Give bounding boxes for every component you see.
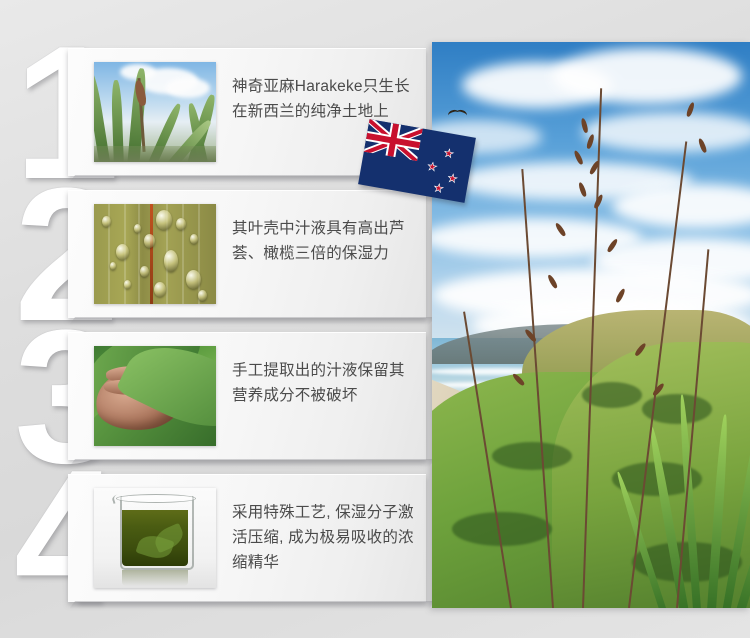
- bird-icon: [448, 110, 468, 119]
- feature-card-2: 其叶壳中汁液具有高出芦荟、橄榄三倍的保湿力: [68, 190, 426, 318]
- dew-on-leaf-photo: [94, 204, 216, 304]
- feature-text-4: 采用特殊工艺, 保湿分子激活压缩, 成为极易吸收的浓缩精华: [216, 474, 426, 602]
- green-liquid-beaker-photo: [94, 488, 216, 588]
- new-zealand-coast-flax-photo: [432, 42, 750, 608]
- feature-card-3: 手工提取出的汁液保留其营养成分不被破坏: [68, 332, 426, 460]
- feature-text-3: 手工提取出的汁液保留其营养成分不被破坏: [216, 332, 426, 460]
- feature-card-4: 采用特殊工艺, 保湿分子激活压缩, 成为极易吸收的浓缩精华: [68, 474, 426, 602]
- flax-plant-sky-photo: [94, 62, 216, 162]
- hand-holding-leaf-photo: [94, 346, 216, 446]
- feature-text-2: 其叶壳中汁液具有高出芦荟、橄榄三倍的保湿力: [216, 190, 426, 318]
- product-feature-page: 1 2 3 4 神奇亚麻Harakeke只生长在新西兰的纯净土地上: [0, 0, 750, 638]
